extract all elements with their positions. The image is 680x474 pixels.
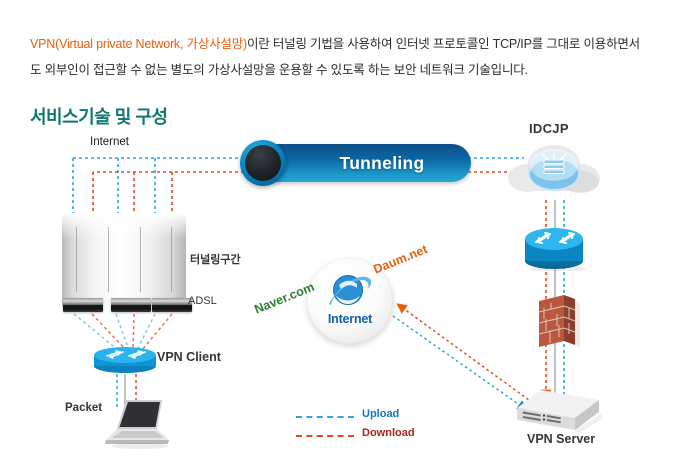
- label-packet: Packet: [65, 402, 102, 414]
- tunnel-zone-body: [62, 213, 186, 306]
- vpn-client-router-icon: [93, 344, 157, 374]
- tunneling-banner: Tunneling: [259, 144, 471, 182]
- intro-highlight: VPN(Virtual private Network, 가상사설망): [30, 37, 247, 51]
- label-vpn-client: VPN Client: [157, 350, 221, 364]
- legend-item-upload: Upload: [296, 408, 416, 427]
- label-tunnel-zone: 터널링구간: [190, 251, 241, 267]
- legend-line-download: [296, 435, 354, 437]
- intro-paragraph: VPN(Virtual private Network, 가상사설망)이란 터널…: [30, 31, 648, 83]
- internet-explorer-icon: [327, 271, 373, 313]
- bidirectional-arrows-icon: [245, 145, 281, 181]
- tunnel-rib: [140, 227, 141, 292]
- idc-router-icon: [522, 223, 586, 271]
- firewall-brick-icon: [534, 293, 580, 351]
- tunnel-rib: [171, 227, 172, 292]
- adsl-modem: [152, 298, 192, 312]
- legend-item-download: Download: [296, 427, 416, 446]
- laptop-icon: [100, 396, 172, 450]
- label-internet: Internet: [90, 136, 129, 148]
- adsl-modem: [63, 298, 103, 312]
- label-adsl: ADSL: [188, 295, 217, 307]
- label-idcjp: IDCJP: [529, 121, 569, 136]
- page-root: VPN(Virtual private Network, 가상사설망)이란 터널…: [0, 0, 680, 474]
- label-vpn-server: VPN Server: [527, 432, 595, 446]
- tunneling-banner-label: Tunneling: [259, 144, 471, 182]
- vpn-server-icon: [515, 388, 603, 438]
- internet-globe-label: Internet: [307, 312, 393, 326]
- legend-line-upload: [296, 416, 354, 418]
- idc-cloud-icon: [506, 140, 602, 200]
- legend-label-upload: Upload: [362, 408, 399, 420]
- legend: Upload Download: [296, 408, 416, 446]
- legend-label-download: Download: [362, 427, 415, 439]
- tunneling-knob: [240, 140, 286, 186]
- tunnel-rib: [76, 227, 77, 292]
- adsl-modem: [111, 298, 151, 312]
- network-diagram: Tunneling: [0, 118, 680, 474]
- tunnel-rib: [108, 227, 109, 292]
